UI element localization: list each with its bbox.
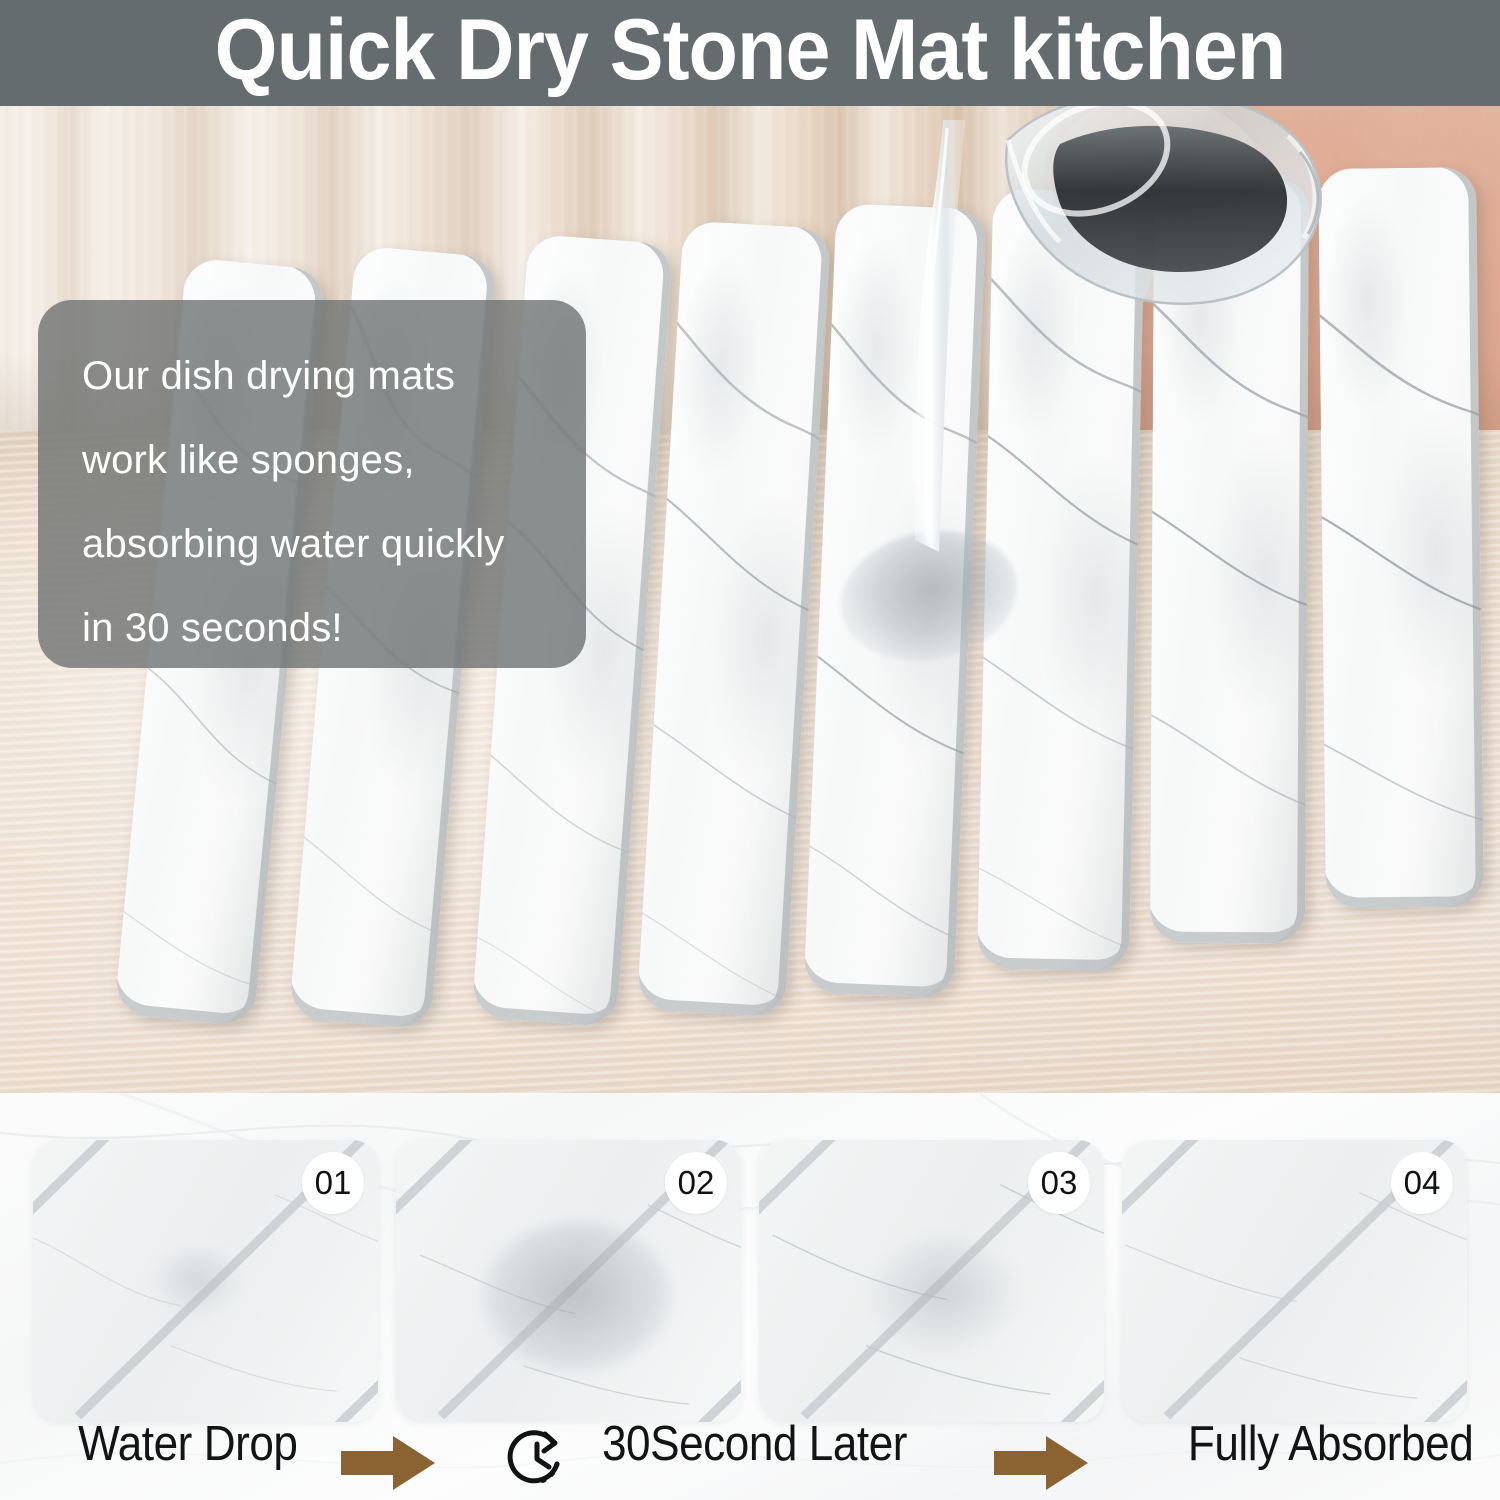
caption-row: Water Drop 30Second Later Fully Absorbed	[0, 1412, 1500, 1490]
caption-fully-absorbed: Fully Absorbed	[1188, 1416, 1473, 1472]
step-badge: 02	[665, 1152, 727, 1214]
arrow-right-icon	[994, 1434, 1088, 1492]
water-absorbed-mark	[869, 1236, 1019, 1354]
mat-slat	[1318, 167, 1484, 909]
step-thumbnail[interactable]: 01	[33, 1140, 378, 1422]
header-bar: Quick Dry Stone Mat kitchen	[0, 0, 1500, 106]
glass-of-water	[1000, 92, 1340, 392]
step-thumbnail-row: 01 02	[0, 1140, 1500, 1422]
slat-shading	[1318, 167, 1484, 909]
product-marketing-image: Our dish drying mats work like sponges, …	[0, 0, 1500, 1500]
arrow-right-icon	[341, 1434, 435, 1492]
clock-icon	[505, 1426, 569, 1490]
overlay-line-1: Our dish drying mats	[82, 334, 586, 418]
step-thumbnail[interactable]: 03	[759, 1140, 1104, 1422]
water-absorbed-mark	[482, 1222, 672, 1372]
water-drop-mark	[151, 1248, 243, 1318]
page-title: Quick Dry Stone Mat kitchen	[45, 0, 1455, 106]
glass-icon	[1000, 92, 1340, 392]
caption-water-drop: Water Drop	[78, 1416, 297, 1472]
overlay-line-3: absorbing water quickly	[82, 502, 586, 586]
overlay-line-4: in 30 seconds!	[82, 586, 586, 670]
step-badge: 03	[1028, 1152, 1090, 1214]
step-badge: 04	[1391, 1152, 1453, 1214]
feature-text-overlay: Our dish drying mats work like sponges, …	[38, 300, 586, 668]
caption-30-second-later: 30Second Later	[602, 1416, 907, 1472]
overlay-line-2: work like sponges,	[82, 418, 586, 502]
step-badge: 01	[302, 1152, 364, 1214]
step-thumbnail[interactable]: 04	[1122, 1140, 1467, 1422]
hero-photo: Our dish drying mats work like sponges, …	[0, 0, 1500, 1093]
step-thumbnail[interactable]: 02	[396, 1140, 741, 1422]
